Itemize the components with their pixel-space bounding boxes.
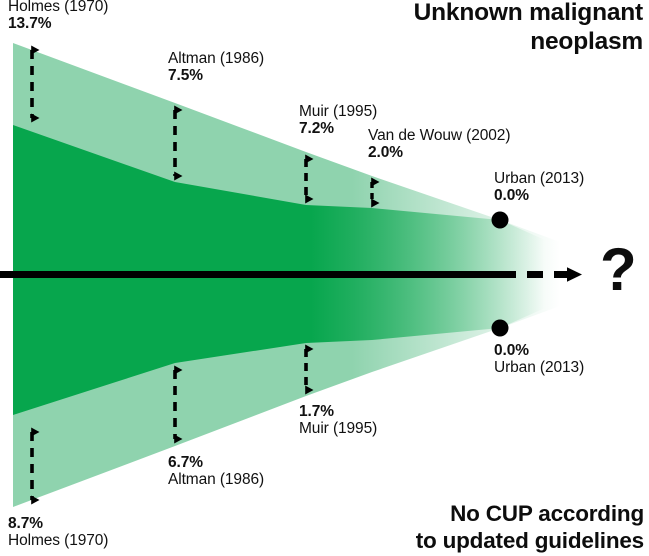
label-altman-lower-value: 6.7%: [168, 455, 264, 472]
label-muir-upper: Muir (1995) 7.2%: [299, 104, 377, 137]
label-holmes-upper: Holmes (1970) 13.7%: [8, 0, 108, 32]
label-muir-upper-value: 7.2%: [299, 121, 377, 138]
footer-line-2: to updated guidelines: [416, 527, 644, 554]
label-holmes-lower-source: Holmes (1970): [8, 533, 108, 550]
label-altman-upper-value: 7.5%: [168, 68, 264, 85]
urban-lower-endpoint-dot: [492, 320, 509, 337]
funnel-figure: Unknown malignant neoplasm No CUP accord…: [0, 0, 649, 556]
label-altman-upper: Altman (1986) 7.5%: [168, 51, 264, 84]
label-urban-lower-value: 0.0%: [494, 343, 584, 360]
label-muir-upper-source: Muir (1995): [299, 104, 377, 121]
title-line-2: neoplasm: [414, 28, 643, 57]
footer-caption: No CUP according to updated guidelines: [416, 500, 644, 554]
label-holmes-upper-value: 13.7%: [8, 16, 108, 33]
label-muir-lower-source: Muir (1995): [299, 421, 377, 438]
label-urban-upper: Urban (2013) 0.0%: [494, 171, 584, 204]
funnel-chart-svg: [0, 0, 649, 556]
label-muir-lower-value: 1.7%: [299, 404, 377, 421]
label-vandewouw-upper-value: 2.0%: [368, 145, 510, 162]
label-holmes-lower: 8.7% Holmes (1970): [8, 516, 108, 549]
label-altman-upper-source: Altman (1986): [168, 51, 264, 68]
label-muir-lower: 1.7% Muir (1995): [299, 404, 377, 437]
label-urban-upper-source: Urban (2013): [494, 171, 584, 188]
label-urban-lower-source: Urban (2013): [494, 360, 584, 377]
footer-line-1: No CUP according: [416, 500, 644, 527]
urban-upper-endpoint-dot: [492, 212, 509, 229]
label-altman-lower: 6.7% Altman (1986): [168, 455, 264, 488]
page-title: Unknown malignant neoplasm: [414, 0, 643, 57]
label-urban-lower: 0.0% Urban (2013): [494, 343, 584, 376]
label-holmes-upper-source: Holmes (1970): [8, 0, 108, 16]
label-urban-upper-value: 0.0%: [494, 188, 584, 205]
label-altman-lower-source: Altman (1986): [168, 472, 264, 489]
title-line-1: Unknown malignant: [414, 0, 643, 28]
question-mark: ?: [600, 240, 637, 300]
label-vandewouw-upper: Van de Wouw (2002) 2.0%: [368, 128, 510, 161]
label-holmes-lower-value: 8.7%: [8, 516, 108, 533]
label-vandewouw-upper-source: Van de Wouw (2002): [368, 128, 510, 145]
